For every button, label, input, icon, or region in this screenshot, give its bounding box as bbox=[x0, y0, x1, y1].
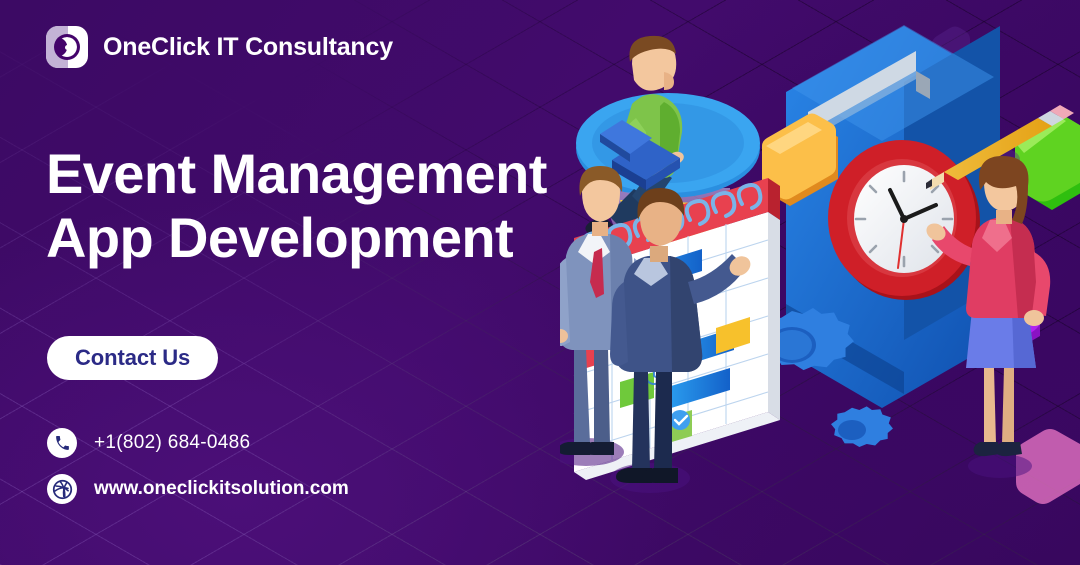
oneclick-logo-icon bbox=[46, 26, 88, 68]
contact-details: +1(802) 684-0486 www.oneclickitsolution.… bbox=[47, 428, 349, 504]
brand-name: OneClick IT Consultancy bbox=[103, 33, 393, 62]
website-row[interactable]: www.oneclickitsolution.com bbox=[47, 474, 349, 504]
blue-gear-small bbox=[831, 406, 893, 447]
phone-icon bbox=[47, 428, 77, 458]
headline-line-2: App Development bbox=[46, 206, 547, 270]
page-title: Event Management App Development bbox=[46, 142, 547, 271]
hero-illustration bbox=[560, 0, 1080, 565]
website-url: www.oneclickitsolution.com bbox=[94, 478, 349, 500]
calendar-check-icon bbox=[670, 410, 690, 430]
phone-row[interactable]: +1(802) 684-0486 bbox=[47, 428, 349, 458]
contact-us-button[interactable]: Contact Us bbox=[47, 336, 218, 380]
phone-number: +1(802) 684-0486 bbox=[94, 432, 250, 454]
promotional-banner: OneClick IT Consultancy Event Management… bbox=[0, 0, 1080, 565]
brand-header[interactable]: OneClick IT Consultancy bbox=[46, 26, 393, 68]
headline-line-1: Event Management bbox=[46, 142, 547, 206]
globe-icon bbox=[47, 474, 77, 504]
